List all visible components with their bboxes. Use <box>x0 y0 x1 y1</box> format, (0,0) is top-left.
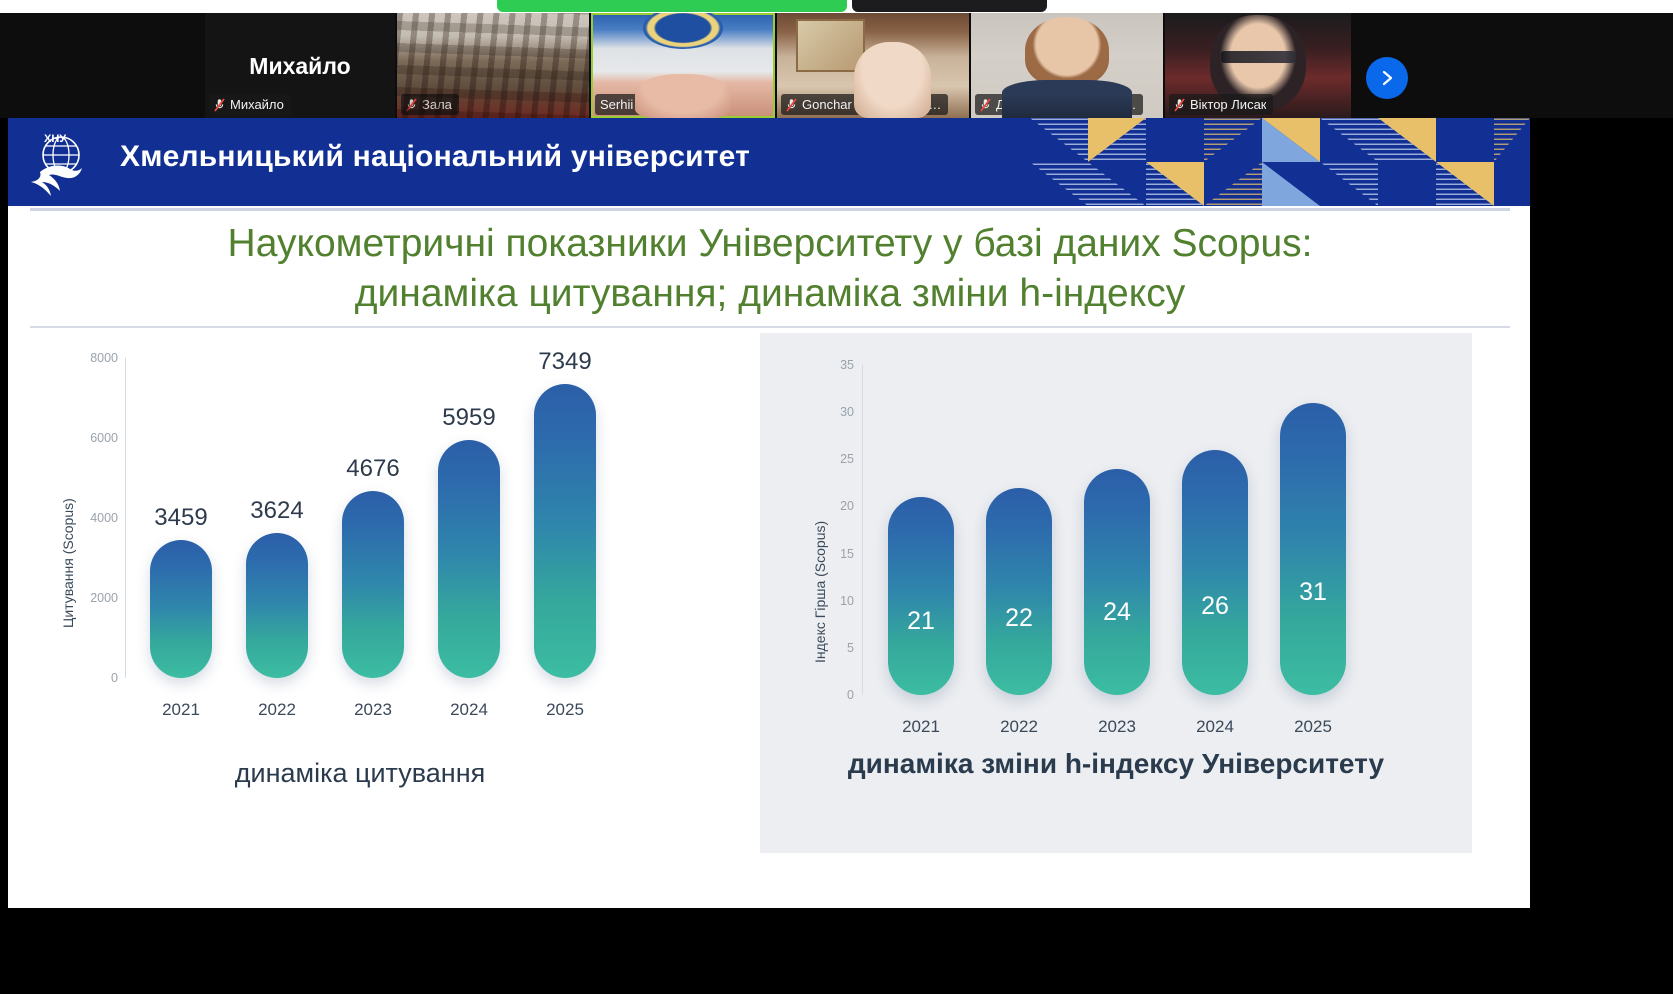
bar-value-label: 22 <box>1005 604 1033 633</box>
participant-name-badge: Віктор Лисак <box>1169 94 1273 115</box>
mic-muted-icon <box>214 98 225 112</box>
y-axis-tick-label: 5 <box>847 641 854 655</box>
y-axis-tick-label: 30 <box>840 405 854 419</box>
participant-tile[interactable]: Зала <box>397 13 589 118</box>
bar-value-label: 3624 <box>250 497 303 525</box>
zoom-top-strip <box>0 0 1673 14</box>
y-axis-tick-label: 35 <box>840 358 854 372</box>
zoom-toolbar-pill[interactable] <box>852 0 1047 12</box>
x-axis-tick-label: 2025 <box>1294 717 1332 737</box>
bar-group: 5959 <box>438 358 500 678</box>
bar-group: 3459 <box>150 358 212 678</box>
participant-initials-name: Михайло <box>205 53 395 80</box>
y-axis-tick-label: 10 <box>840 594 854 608</box>
participant-filmstrip[interactable]: Михайло Михайло Зала Serhii Matiukh <box>0 13 1673 118</box>
bar <box>888 497 954 695</box>
decorative-pattern <box>950 118 1530 206</box>
university-name: Хмельницький національний університет <box>120 140 750 174</box>
bar <box>246 533 308 678</box>
y-axis-tick-label: 6000 <box>90 431 118 445</box>
bar-group: 7349 <box>534 358 596 678</box>
y-axis-tick-label: 4000 <box>90 511 118 525</box>
letterbox-left <box>0 118 8 908</box>
y-axis-tick-label: 8000 <box>90 351 118 365</box>
bar-value-label: 26 <box>1201 592 1229 621</box>
zoom-recording-indicator[interactable] <box>497 0 847 12</box>
x-axis-tick-label: 2024 <box>450 700 488 720</box>
bar-value-label: 3459 <box>154 504 207 532</box>
chart-h-index-caption: динаміка зміни h-індексу Університету <box>760 748 1472 780</box>
y-axis-tick-label: 0 <box>111 671 118 685</box>
bar <box>1084 469 1150 695</box>
bar-group: 4676 <box>342 358 404 678</box>
bar <box>438 440 500 678</box>
chart-citations-axis-line <box>125 358 126 678</box>
x-axis-tick-label: 2021 <box>902 717 940 737</box>
bar <box>1280 403 1346 695</box>
letterbox-right <box>1530 118 1673 908</box>
x-axis-tick-label: 2022 <box>258 700 296 720</box>
bar <box>534 384 596 678</box>
slide-title-line-1: Наукометричні показники Університету у б… <box>228 219 1313 269</box>
x-axis-tick-label: 2023 <box>1098 717 1136 737</box>
bar-group: 3624 <box>246 358 308 678</box>
bar-group: 21 <box>888 365 954 695</box>
participant-name: Віктор Лисак <box>1190 96 1266 113</box>
chart-citations-ylabel: Цитування (Scopus) <box>60 498 76 628</box>
bar-value-label: 4676 <box>346 455 399 483</box>
y-axis-tick-label: 25 <box>840 452 854 466</box>
mic-muted-icon <box>786 98 797 112</box>
bar <box>342 491 404 678</box>
bar-value-label: 5959 <box>442 404 495 432</box>
bar-group: 24 <box>1084 365 1150 695</box>
chart-citations: Цитування (Scopus) 02000400060008000 345… <box>30 328 690 868</box>
hnu-globe-logo-icon: ХНУ <box>30 128 102 198</box>
participant-name: Serhii Matiukh <box>600 96 682 113</box>
y-axis-tick-label: 20 <box>840 499 854 513</box>
chart-h-index-axis-line <box>862 365 863 695</box>
slide-header-band: ХНУ Хмельницький національний університе… <box>8 118 1530 206</box>
x-axis-tick-label: 2024 <box>1196 717 1234 737</box>
shared-slide: ХНУ Хмельницький національний університе… <box>8 118 1530 908</box>
slide-title-line-2: динаміка цитування; динаміка зміни h-інд… <box>355 269 1185 319</box>
chart-h-index-ylabel: Індекс Гірша (Scopus) <box>812 521 828 663</box>
bar-value-label: 21 <box>907 607 935 636</box>
participant-name-badge: Serhii Matiukh <box>595 94 689 115</box>
mic-muted-icon <box>406 98 417 112</box>
bar-group: 22 <box>986 365 1052 695</box>
participant-name: Михайло <box>230 96 284 113</box>
participant-name-badge: Дмитро Васильківськ… <box>975 94 1143 115</box>
bar-value-label: 31 <box>1299 578 1327 607</box>
bar <box>986 488 1052 695</box>
participant-name-badge: Gonchar Olga / Гонча… <box>781 94 948 115</box>
participant-tile[interactable]: Віктор Лисак <box>1165 13 1351 118</box>
bar-value-label: 7349 <box>538 348 591 376</box>
participant-tile[interactable]: Gonchar Olga / Гонча… <box>777 13 969 118</box>
mic-muted-icon <box>1174 98 1185 112</box>
mic-muted-icon <box>980 98 991 112</box>
x-axis-tick-label: 2021 <box>162 700 200 720</box>
participant-name: Зала <box>422 96 452 113</box>
screen: Михайло Михайло Зала Serhii Matiukh <box>0 0 1673 994</box>
participant-name-badge: Михайло <box>209 94 291 115</box>
bar <box>1182 450 1248 695</box>
letterbox-bottom <box>0 908 1673 994</box>
chart-h-index: Індекс Гірша (Scopus) 05101520253035 212… <box>760 333 1472 853</box>
x-axis-tick-label: 2022 <box>1000 717 1038 737</box>
bar-group: 26 <box>1182 365 1248 695</box>
participant-name-badge: Зала <box>401 94 459 115</box>
chevron-right-icon[interactable] <box>1366 57 1408 99</box>
y-axis-tick-label: 0 <box>847 688 854 702</box>
y-axis-tick-label: 2000 <box>90 591 118 605</box>
bar-value-label: 24 <box>1103 598 1131 627</box>
participant-tile[interactable]: Дмитро Васильківськ… <box>971 13 1163 118</box>
bar-group: 31 <box>1280 365 1346 695</box>
x-axis-tick-label: 2023 <box>354 700 392 720</box>
slide-title: Наукометричні показники Університету у б… <box>30 208 1510 328</box>
x-axis-tick-label: 2025 <box>546 700 584 720</box>
participant-name: Дмитро Васильківськ… <box>996 96 1136 113</box>
participant-tile[interactable]: Михайло Михайло <box>205 13 395 118</box>
participant-tile-active-speaker[interactable]: Serhii Matiukh <box>591 13 775 118</box>
bar <box>150 540 212 678</box>
y-axis-tick-label: 15 <box>840 547 854 561</box>
participant-name: Gonchar Olga / Гонча… <box>802 96 941 113</box>
chart-citations-caption: динаміка цитування <box>30 758 690 789</box>
